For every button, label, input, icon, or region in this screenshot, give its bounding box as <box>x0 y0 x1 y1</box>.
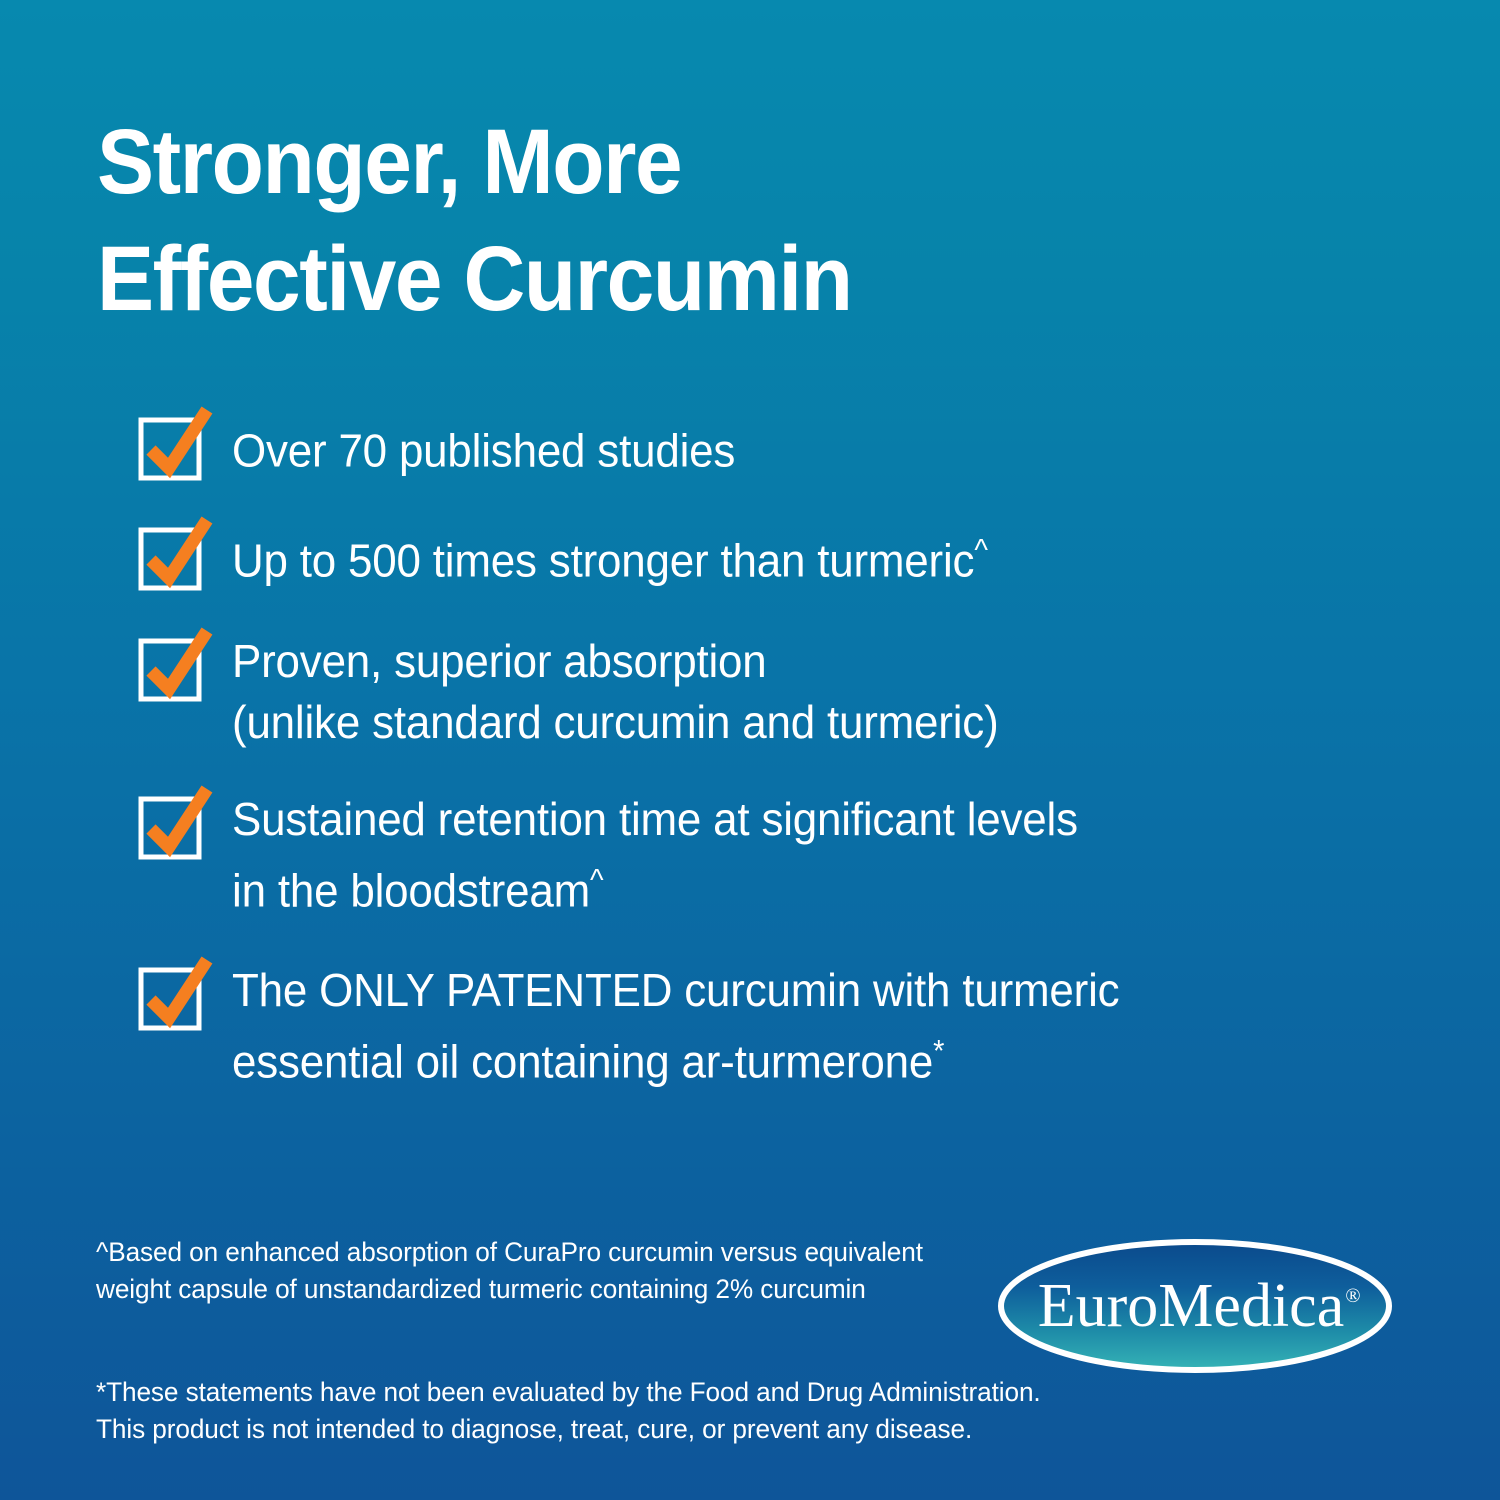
footnote-line: *These statements have not been evaluate… <box>96 1374 1027 1411</box>
benefits-list: Over 70 published studies Up to 500 time… <box>141 410 1391 1093</box>
list-item-text: Up to 500 times stronger than turmeric^ <box>232 520 988 592</box>
bullet-line: essential oil containing ar-turmerone <box>232 1036 933 1088</box>
footnotes: ^Based on enhanced absorption of CuraPro… <box>96 1234 1056 1448</box>
bullet-marker: ^ <box>974 534 987 567</box>
headline-line-2: Effective Curcumin <box>97 221 1139 338</box>
page-title: Stronger, More Effective Curcumin <box>97 104 1217 338</box>
logo-registered-mark: ® <box>1345 1285 1360 1307</box>
list-item-text: The ONLY PATENTED curcumin with turmeric… <box>232 960 1119 1093</box>
logo-wordmark: EuroMedica <box>1038 1272 1344 1340</box>
list-item: The ONLY PATENTED curcumin with turmeric… <box>141 960 1391 1093</box>
list-item-text: Sustained retention time at significant … <box>232 789 1078 922</box>
bullet-line: (unlike standard curcumin and turmeric) <box>232 692 999 753</box>
bullet-line: in the bloodstream <box>232 865 590 917</box>
bullet-marker: ^ <box>590 864 603 897</box>
checkbox-checked-icon <box>141 970 199 1028</box>
checkbox-checked-icon <box>141 641 199 699</box>
footnote-absorption: ^Based on enhanced absorption of CuraPro… <box>96 1234 1027 1308</box>
list-item: Over 70 published studies <box>141 410 1391 482</box>
footnote-spacer <box>96 1308 1056 1374</box>
footnote-line: weight capsule of unstandardized turmeri… <box>96 1271 1027 1308</box>
footnote-line: This product is not intended to diagnose… <box>96 1411 1027 1448</box>
headline-line-1: Stronger, More <box>97 104 1139 221</box>
list-item: Proven, superior absorption (unlike stan… <box>141 631 1391 753</box>
bullet-line: Proven, superior absorption <box>232 631 999 692</box>
list-item: Sustained retention time at significant … <box>141 789 1391 922</box>
footnote-line: ^Based on enhanced absorption of CuraPro… <box>96 1234 1027 1271</box>
list-item-text: Over 70 published studies <box>232 410 735 482</box>
checkbox-checked-icon <box>141 799 199 857</box>
list-item: Up to 500 times stronger than turmeric^ <box>141 520 1391 592</box>
checkbox-checked-icon <box>141 420 199 478</box>
bullet-marker: * <box>933 1035 944 1068</box>
bullet-line: Up to 500 times stronger than turmeric <box>232 534 974 586</box>
checkbox-checked-icon <box>141 530 199 588</box>
bullet-line: The ONLY PATENTED curcumin with turmeric <box>232 960 1119 1021</box>
footnote-fda-disclaimer: *These statements have not been evaluate… <box>96 1374 1027 1448</box>
euromedica-logo: EuroMedica ® <box>995 1236 1395 1376</box>
list-item-text: Proven, superior absorption (unlike stan… <box>232 631 999 753</box>
bullet-line: Over 70 published studies <box>232 425 735 477</box>
bullet-line: Sustained retention time at significant … <box>232 789 1078 850</box>
